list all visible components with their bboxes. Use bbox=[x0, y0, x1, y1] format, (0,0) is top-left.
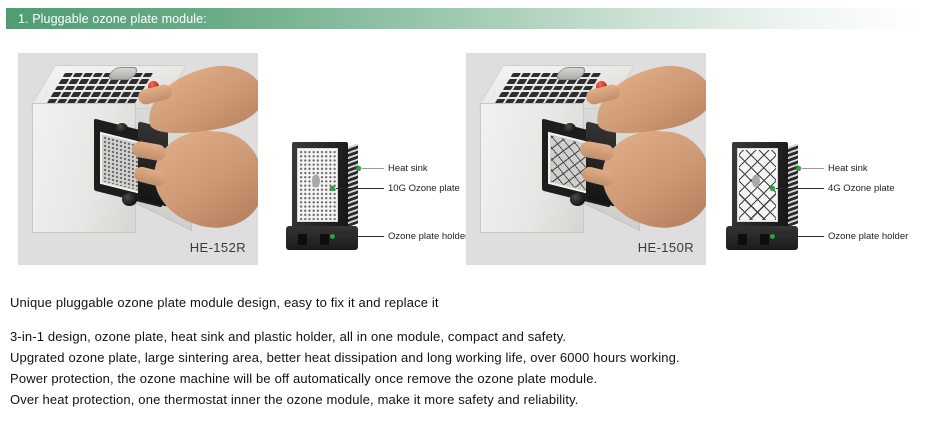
ozone-machine-illustration bbox=[26, 65, 202, 241]
callout-lead-heat-sink bbox=[802, 168, 824, 169]
feature-line: Over heat protection, one thermostat inn… bbox=[10, 389, 930, 410]
callout-label-ozone-plate: 4G Ozone plate bbox=[828, 184, 895, 194]
model-label-he152r: HE-152R bbox=[190, 240, 246, 255]
callout-lead-ozone-plate bbox=[776, 188, 824, 189]
plate-center-blob bbox=[312, 174, 320, 187]
product-photo-he150r: HE-150R bbox=[466, 53, 706, 265]
callout-label-ozone-plate: 10G Ozone plate bbox=[388, 184, 460, 194]
machine-foot bbox=[570, 193, 585, 206]
callout-lead-plate-holder bbox=[336, 236, 384, 237]
holder-slot bbox=[738, 234, 747, 245]
ozone-machine-illustration bbox=[474, 65, 650, 241]
feature-line: Power protection, the ozone machine will… bbox=[10, 368, 930, 389]
feature-description-block: Unique pluggable ozone plate module desi… bbox=[10, 292, 930, 410]
callout-lead-plate-holder bbox=[776, 236, 824, 237]
holder-slot bbox=[320, 234, 329, 245]
intro-line: Unique pluggable ozone plate module desi… bbox=[10, 292, 930, 313]
callout-dot-ozone-plate bbox=[330, 186, 335, 191]
holder-slot bbox=[760, 234, 769, 245]
callout-dot-plate-holder bbox=[770, 234, 775, 239]
holder-slot bbox=[298, 234, 307, 245]
ozone-plate-face bbox=[737, 148, 778, 222]
section-header-bar: 1. Pluggable ozone plate module: bbox=[6, 8, 922, 29]
callout-dot-heat-sink bbox=[356, 166, 361, 171]
callout-label-plate-holder: Ozone plate holder bbox=[828, 232, 908, 242]
model-label-he150r: HE-150R bbox=[638, 240, 694, 255]
callout-label-heat-sink: Heat sink bbox=[828, 164, 868, 174]
machine-vent-grid bbox=[47, 73, 153, 103]
page-title: 1. Pluggable ozone plate module: bbox=[18, 12, 207, 26]
machine-foot bbox=[564, 123, 576, 134]
callout-dot-ozone-plate bbox=[770, 186, 775, 191]
machine-vent-grid bbox=[495, 73, 601, 103]
callout-module-4g: Heat sink 4G Ozone plate Ozone plate hol… bbox=[722, 138, 922, 256]
callout-label-plate-holder: Ozone plate holder bbox=[388, 232, 468, 242]
machine-foot bbox=[122, 193, 137, 206]
callout-lead-ozone-plate bbox=[336, 188, 384, 189]
feature-line: 3-in-1 design, ozone plate, heat sink an… bbox=[10, 326, 930, 347]
callout-label-heat-sink: Heat sink bbox=[388, 164, 428, 174]
feature-line: Upgrated ozone plate, large sintering ar… bbox=[10, 347, 930, 368]
product-photo-he152r: HE-152R bbox=[18, 53, 258, 265]
callout-lead-heat-sink bbox=[362, 168, 384, 169]
ozone-module-diagram bbox=[726, 138, 800, 250]
ozone-module-diagram bbox=[286, 138, 360, 250]
ozone-plate-face bbox=[297, 148, 338, 222]
callout-module-10g: Heat sink 10G Ozone plate Ozone plate ho… bbox=[282, 138, 467, 256]
callout-dot-heat-sink bbox=[796, 166, 801, 171]
plate-center-blob bbox=[752, 174, 760, 187]
machine-foot bbox=[116, 123, 128, 134]
callout-dot-plate-holder bbox=[330, 234, 335, 239]
paragraph-spacer bbox=[10, 313, 930, 326]
